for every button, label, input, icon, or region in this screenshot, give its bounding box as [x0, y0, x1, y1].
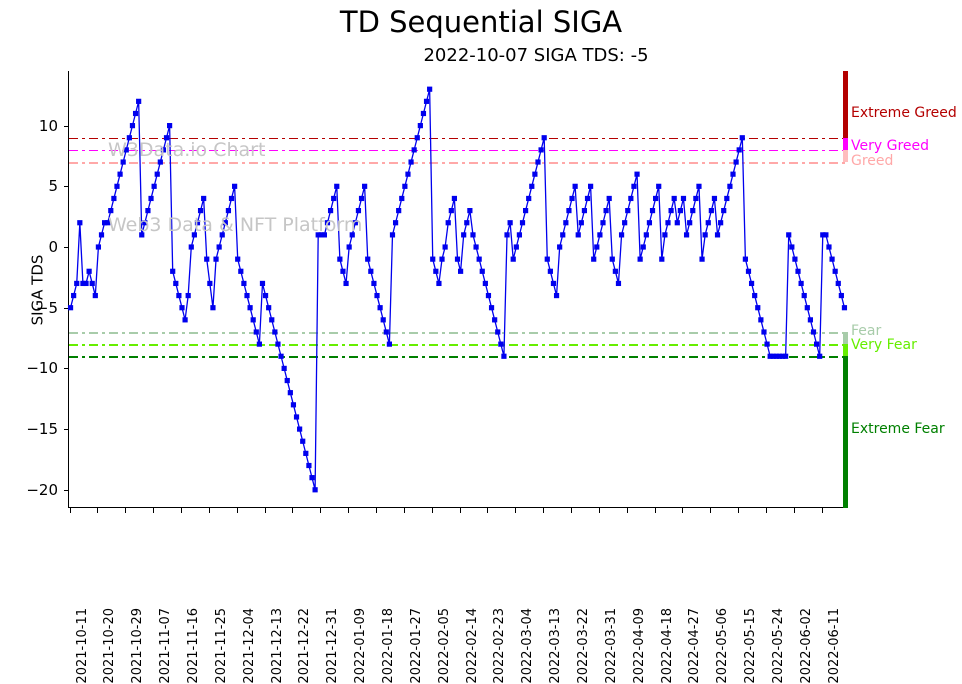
data-point-marker — [220, 232, 225, 237]
data-point-marker — [600, 220, 605, 225]
data-point-marker — [263, 293, 268, 298]
x-tick-mark — [153, 508, 154, 513]
data-point-marker — [204, 257, 209, 262]
x-tick-label: 2022-05-06 — [716, 608, 729, 684]
data-point-marker — [579, 220, 584, 225]
y-tick-label: −10 — [26, 361, 58, 376]
x-tick-mark — [599, 508, 600, 513]
fear-bar — [843, 332, 848, 344]
data-point-marker — [833, 269, 838, 274]
data-point-marker — [384, 329, 389, 334]
data-point-marker — [783, 354, 788, 359]
data-point-marker — [325, 220, 330, 225]
x-tick-label: 2021-11-25 — [215, 608, 228, 684]
data-point-marker — [696, 184, 701, 189]
data-point-marker — [690, 208, 695, 213]
data-point-marker — [198, 208, 203, 213]
data-point-marker — [706, 220, 711, 225]
data-point-marker — [631, 184, 636, 189]
data-point-marker — [396, 208, 401, 213]
data-point-marker — [257, 342, 262, 347]
data-point-marker — [121, 159, 126, 164]
data-point-marker — [675, 220, 680, 225]
data-point-marker — [226, 208, 231, 213]
data-point-marker — [764, 342, 769, 347]
data-point-marker — [483, 281, 488, 286]
data-point-marker — [542, 135, 547, 140]
data-point-marker — [613, 269, 618, 274]
y-tick-label: 10 — [39, 119, 58, 134]
data-point-marker — [795, 269, 800, 274]
data-point-marker — [275, 342, 280, 347]
data-point-marker — [167, 123, 172, 128]
data-point-marker — [334, 184, 339, 189]
x-tick-label: 2022-04-27 — [688, 608, 701, 684]
data-point-marker — [743, 257, 748, 262]
x-tick-mark — [460, 508, 461, 513]
data-point-marker — [755, 305, 760, 310]
data-point-marker — [291, 402, 296, 407]
data-point-marker — [303, 451, 308, 456]
x-tick-mark — [710, 508, 711, 513]
x-tick-label: 2021-11-16 — [187, 608, 200, 684]
data-point-marker — [662, 232, 667, 237]
data-point-marker — [201, 196, 206, 201]
data-point-marker — [374, 293, 379, 298]
y-axis-label-wrap: SIGA TDS — [0, 71, 22, 508]
data-point-marker — [130, 123, 135, 128]
data-point-marker — [455, 257, 460, 262]
data-point-marker — [368, 269, 373, 274]
data-point-marker — [836, 281, 841, 286]
data-point-marker — [229, 196, 234, 201]
data-point-marker — [210, 305, 215, 310]
data-point-marker — [573, 184, 578, 189]
data-point-marker — [650, 208, 655, 213]
x-tick-mark — [320, 508, 321, 513]
data-point-marker — [681, 196, 686, 201]
x-tick-label: 2022-01-09 — [354, 608, 367, 684]
data-point-marker — [381, 317, 386, 322]
x-tick-mark — [766, 508, 767, 513]
data-point-marker — [322, 232, 327, 237]
data-point-marker — [477, 257, 482, 262]
data-point-marker — [378, 305, 383, 310]
data-point-marker — [789, 244, 794, 249]
data-point-marker — [535, 159, 540, 164]
x-tick-label: 2022-03-13 — [549, 608, 562, 684]
data-point-marker — [576, 232, 581, 237]
data-point-marker — [817, 354, 822, 359]
data-point-marker — [136, 99, 141, 104]
data-point-marker — [727, 184, 732, 189]
data-point-marker — [492, 317, 497, 322]
data-point-marker — [622, 220, 627, 225]
data-point-marker — [523, 208, 528, 213]
data-point-marker — [111, 196, 116, 201]
data-point-marker — [124, 147, 129, 152]
data-point-marker — [424, 99, 429, 104]
x-tick-mark — [543, 508, 544, 513]
data-point-marker — [117, 172, 122, 177]
data-point-marker — [155, 172, 160, 177]
data-point-marker — [520, 220, 525, 225]
data-point-marker — [241, 281, 246, 286]
data-point-marker — [288, 390, 293, 395]
x-tick-label: 2021-12-13 — [271, 608, 284, 684]
very-greed-bar — [843, 138, 848, 150]
data-point-marker — [823, 232, 828, 237]
data-point-marker — [269, 317, 274, 322]
extreme-fear-label: Extreme Fear — [851, 422, 945, 436]
data-point-marker — [108, 208, 113, 213]
x-tick-label: 2022-02-05 — [438, 608, 451, 684]
data-point-marker — [449, 208, 454, 213]
x-tick-mark — [794, 508, 795, 513]
data-point-marker — [560, 232, 565, 237]
y-tick-label: −20 — [26, 483, 58, 498]
data-point-marker — [74, 281, 79, 286]
data-point-marker — [347, 244, 352, 249]
data-point-marker — [501, 354, 506, 359]
data-point-marker — [71, 293, 76, 298]
x-tick-mark — [738, 508, 739, 513]
data-point-marker — [802, 293, 807, 298]
x-tick-label: 2022-01-18 — [382, 608, 395, 684]
data-point-marker — [164, 135, 169, 140]
data-point-marker — [712, 196, 717, 201]
x-tick-mark — [487, 508, 488, 513]
data-point-marker — [371, 281, 376, 286]
data-point-marker — [470, 232, 475, 237]
data-point-marker — [808, 317, 813, 322]
very-fear-bar — [843, 344, 848, 356]
data-point-marker — [585, 196, 590, 201]
data-point-marker — [402, 184, 407, 189]
data-point-marker — [826, 244, 831, 249]
data-point-marker — [415, 135, 420, 140]
data-point-marker — [805, 305, 810, 310]
fear-label: Fear — [851, 324, 881, 338]
data-point-marker — [278, 354, 283, 359]
data-point-marker — [678, 208, 683, 213]
data-point-marker — [189, 244, 194, 249]
data-point-marker — [557, 244, 562, 249]
data-point-marker — [328, 208, 333, 213]
x-tick-label: 2021-12-31 — [326, 608, 339, 684]
data-point-marker — [87, 269, 92, 274]
data-point-marker — [127, 135, 132, 140]
data-point-marker — [399, 196, 404, 201]
data-point-marker — [709, 208, 714, 213]
data-point-marker — [703, 232, 708, 237]
x-tick-label: 2021-10-20 — [103, 608, 116, 684]
x-tick-mark — [682, 508, 683, 513]
data-point-marker — [829, 257, 834, 262]
data-point-marker — [603, 208, 608, 213]
data-point-marker — [251, 317, 256, 322]
data-point-marker — [659, 257, 664, 262]
data-point-marker — [545, 257, 550, 262]
data-point-marker — [195, 220, 200, 225]
series-line — [71, 89, 845, 490]
data-point-marker — [480, 269, 485, 274]
x-tick-mark — [292, 508, 293, 513]
x-tick-mark — [376, 508, 377, 513]
x-tick-label: 2022-05-15 — [744, 608, 757, 684]
data-point-marker — [176, 293, 181, 298]
data-point-marker — [238, 269, 243, 274]
data-point-marker — [68, 305, 73, 310]
very-greed-label: Very Greed — [851, 139, 929, 153]
data-point-marker — [693, 196, 698, 201]
data-point-marker — [495, 329, 500, 334]
x-tick-label: 2022-04-09 — [633, 608, 646, 684]
data-point-marker — [105, 220, 110, 225]
data-point-marker — [430, 257, 435, 262]
data-point-marker — [282, 366, 287, 371]
data-point-marker — [746, 269, 751, 274]
data-point-marker — [672, 196, 677, 201]
data-point-marker — [504, 232, 509, 237]
data-point-marker — [313, 487, 318, 492]
data-point-marker — [489, 305, 494, 310]
data-point-marker — [638, 257, 643, 262]
data-point-marker — [170, 269, 175, 274]
data-point-marker — [616, 281, 621, 286]
data-point-marker — [566, 208, 571, 213]
data-point-marker — [217, 244, 222, 249]
data-point-marker — [306, 463, 311, 468]
data-point-marker — [740, 135, 745, 140]
x-tick-label: 2022-03-04 — [521, 608, 534, 684]
x-tick-mark — [97, 508, 98, 513]
data-point-marker — [390, 232, 395, 237]
x-tick-label: 2022-06-02 — [800, 608, 813, 684]
data-point-marker — [223, 220, 228, 225]
data-point-marker — [161, 147, 166, 152]
data-point-marker — [436, 281, 441, 286]
data-point-marker — [610, 257, 615, 262]
chart-subtitle: 2022-10-07 SIGA TDS: -5 — [55, 45, 962, 67]
data-point-marker — [514, 244, 519, 249]
data-point-marker — [343, 281, 348, 286]
data-point-marker — [452, 196, 457, 201]
data-point-marker — [563, 220, 568, 225]
chart-root: TD Sequential SIGA 2022-10-07 SIGA TDS: … — [0, 0, 962, 614]
x-tick-mark — [404, 508, 405, 513]
data-point-marker — [427, 87, 432, 92]
data-point-marker — [145, 208, 150, 213]
x-tick-label: 2022-05-24 — [772, 608, 785, 684]
data-point-marker — [179, 305, 184, 310]
greed-label: Greed — [851, 154, 893, 168]
data-point-marker — [260, 281, 265, 286]
x-tick-label: 2022-03-31 — [605, 608, 618, 684]
x-tick-mark — [571, 508, 572, 513]
data-point-marker — [551, 281, 556, 286]
data-point-marker — [192, 232, 197, 237]
x-tick-label: 2022-04-18 — [661, 608, 674, 684]
data-point-marker — [340, 269, 345, 274]
data-point-marker — [665, 220, 670, 225]
data-point-marker — [464, 220, 469, 225]
data-point-marker — [594, 244, 599, 249]
data-point-marker — [715, 232, 720, 237]
data-point-marker — [730, 172, 735, 177]
data-point-marker — [297, 427, 302, 432]
x-tick-mark — [822, 508, 823, 513]
data-point-marker — [353, 220, 358, 225]
x-tick-label: 2021-10-11 — [76, 608, 89, 684]
data-point-marker — [619, 232, 624, 237]
data-point-marker — [724, 196, 729, 201]
x-tick-mark — [627, 508, 628, 513]
data-point-marker — [653, 196, 658, 201]
data-point-marker — [792, 257, 797, 262]
data-point-marker — [244, 293, 249, 298]
data-point-marker — [142, 220, 147, 225]
data-point-marker — [669, 208, 674, 213]
data-point-marker — [684, 232, 689, 237]
data-point-marker — [173, 281, 178, 286]
data-point-marker — [99, 232, 104, 237]
data-point-marker — [96, 244, 101, 249]
data-point-marker — [90, 281, 95, 286]
data-point-marker — [186, 293, 191, 298]
data-point-marker — [517, 232, 522, 237]
data-point-marker — [761, 329, 766, 334]
data-point-marker — [285, 378, 290, 383]
data-point-marker — [641, 244, 646, 249]
data-point-marker — [628, 196, 633, 201]
data-point-marker — [254, 329, 259, 334]
y-tick-label: 5 — [48, 179, 58, 194]
data-point-marker — [588, 184, 593, 189]
data-point-marker — [393, 220, 398, 225]
greed-bar — [843, 150, 848, 162]
data-point-marker — [498, 342, 503, 347]
data-point-marker — [359, 196, 364, 201]
y-tick-label: −5 — [36, 301, 58, 316]
data-point-marker — [554, 293, 559, 298]
data-point-marker — [77, 220, 82, 225]
data-point-marker — [182, 317, 187, 322]
data-point-marker — [508, 220, 513, 225]
x-tick-mark — [348, 508, 349, 513]
data-point-marker — [148, 196, 153, 201]
data-point-marker — [752, 293, 757, 298]
data-point-marker — [93, 293, 98, 298]
data-point-marker — [656, 184, 661, 189]
y-tick-label: 0 — [48, 240, 58, 255]
data-point-marker — [699, 257, 704, 262]
data-point-marker — [213, 257, 218, 262]
x-tick-mark — [70, 508, 71, 513]
data-point-marker — [272, 329, 277, 334]
data-point-marker — [718, 220, 723, 225]
extreme-greed-bar — [843, 71, 848, 138]
data-point-marker — [412, 147, 417, 152]
data-point-marker — [232, 184, 237, 189]
chart-title: TD Sequential SIGA — [0, 5, 962, 39]
data-point-marker — [811, 329, 816, 334]
x-tick-label: 2021-11-07 — [159, 608, 172, 684]
data-point-marker — [421, 111, 426, 116]
data-point-marker — [625, 208, 630, 213]
very-fear-label: Very Fear — [851, 338, 917, 352]
data-point-marker — [734, 159, 739, 164]
data-point-marker — [687, 220, 692, 225]
x-tick-mark — [515, 508, 516, 513]
data-point-marker — [532, 172, 537, 177]
data-point-marker — [362, 184, 367, 189]
data-point-marker — [309, 475, 314, 480]
data-point-marker — [356, 208, 361, 213]
x-tick-mark — [125, 508, 126, 513]
series-siga-tds — [69, 71, 846, 508]
data-point-marker — [569, 196, 574, 201]
data-point-marker — [152, 184, 157, 189]
data-point-marker — [446, 220, 451, 225]
data-point-marker — [814, 342, 819, 347]
x-tick-label: 2022-02-14 — [466, 608, 479, 684]
data-point-marker — [607, 196, 612, 201]
data-point-marker — [529, 184, 534, 189]
data-point-marker — [247, 305, 252, 310]
x-tick-label: 2021-12-22 — [298, 608, 311, 684]
data-point-marker — [842, 305, 847, 310]
data-point-marker — [139, 232, 144, 237]
data-point-marker — [461, 232, 466, 237]
data-point-marker — [387, 342, 392, 347]
data-point-marker — [473, 244, 478, 249]
data-point-marker — [158, 159, 163, 164]
data-point-marker — [365, 257, 370, 262]
extreme-greed-label: Extreme Greed — [851, 106, 957, 120]
data-point-marker — [511, 257, 516, 262]
data-point-marker — [786, 232, 791, 237]
data-point-marker — [758, 317, 763, 322]
data-point-marker — [737, 147, 742, 152]
data-point-marker — [799, 281, 804, 286]
data-point-marker — [634, 172, 639, 177]
data-point-marker — [538, 147, 543, 152]
data-point-marker — [337, 257, 342, 262]
data-point-marker — [83, 281, 88, 286]
data-point-marker — [467, 208, 472, 213]
data-point-marker — [266, 305, 271, 310]
plot-area: 1050−5−10−15−20 — [68, 71, 845, 508]
x-tick-label: 2021-12-04 — [243, 608, 256, 684]
y-tick-label: −15 — [26, 422, 58, 437]
data-point-marker — [408, 159, 413, 164]
data-point-marker — [486, 293, 491, 298]
data-point-marker — [331, 196, 336, 201]
data-point-marker — [548, 269, 553, 274]
data-point-marker — [644, 232, 649, 237]
x-tick-label: 2022-03-22 — [577, 608, 590, 684]
data-point-marker — [294, 414, 299, 419]
x-tick-mark — [265, 508, 266, 513]
data-point-marker — [721, 208, 726, 213]
data-point-marker — [114, 184, 119, 189]
x-tick-mark — [209, 508, 210, 513]
data-point-marker — [133, 111, 138, 116]
data-point-marker — [582, 208, 587, 213]
x-tick-label: 2022-01-27 — [410, 608, 423, 684]
data-point-marker — [207, 281, 212, 286]
